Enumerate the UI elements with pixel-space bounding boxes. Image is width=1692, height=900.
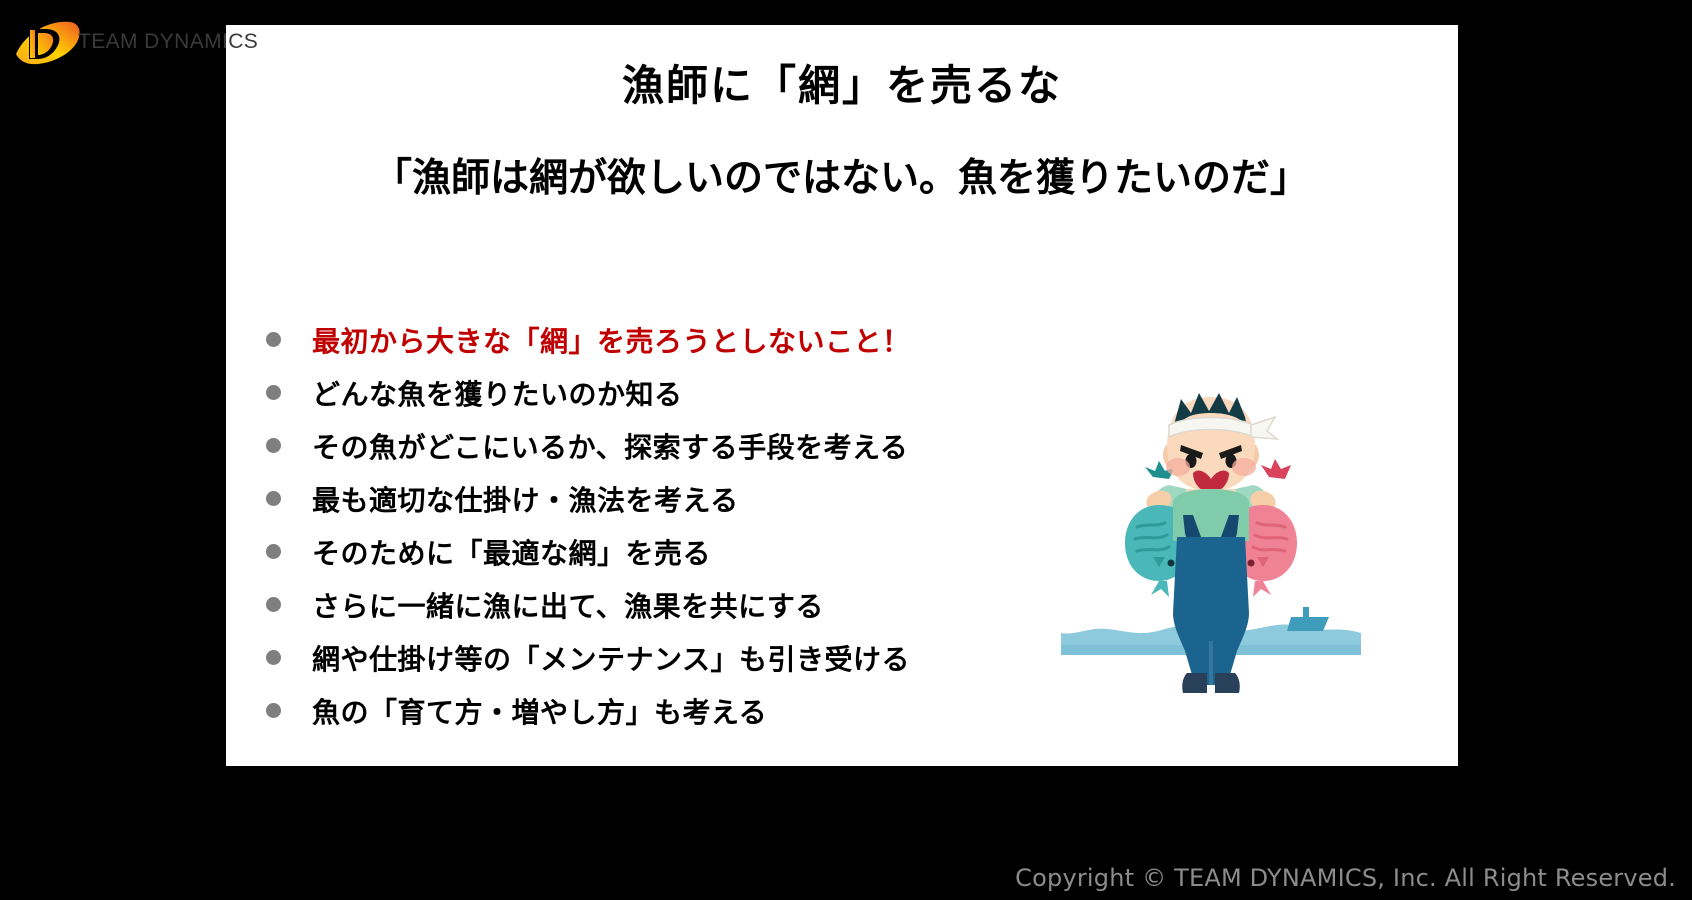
presentation-slide-viewer: TEAM DYNAMICS 漁師に「網」を売るな 「漁師は網が欲しいのではない。… <box>0 0 1692 900</box>
slide-subtitle: 「漁師は網が欲しいのではない。魚を獲りたいのだ」 <box>321 143 1361 215</box>
list-item-label: その魚がどこにいるか、探索する手段を考える <box>312 426 908 466</box>
list-item-label: 最も適切な仕掛け・漁法を考える <box>312 479 739 519</box>
list-item: さらに一緒に漁に出て、漁果を共にする <box>254 578 1054 631</box>
list-item-label: 網や仕掛け等の「メンテナンス」も引き受ける <box>312 638 910 678</box>
list-item: 最も適切な仕掛け・漁法を考える <box>254 472 1054 525</box>
fisherman-holding-two-fish-illustration <box>1041 355 1381 695</box>
page-title: 漁師に「網」を売るな <box>226 63 1458 109</box>
list-item-label: そのために「最適な網」を売る <box>312 532 711 572</box>
bullet-dot-icon <box>266 438 281 453</box>
list-item: 魚の「育て方・増やし方」も考える <box>254 684 1054 737</box>
overalls-icon <box>1173 515 1249 685</box>
bullet-dot-icon <box>266 385 281 400</box>
bullet-dot-icon <box>266 544 281 559</box>
bullet-dot-icon <box>266 491 281 506</box>
brand-logo: TEAM DYNAMICS <box>12 14 258 70</box>
bullet-dot-icon <box>266 703 281 718</box>
boat-icon <box>1287 607 1329 631</box>
list-item-label: 最初から大きな「網」を売ろうとしないこと！ <box>312 320 911 360</box>
team-dynamics-d-logo-icon <box>12 14 84 70</box>
bullet-list: 最初から大きな「網」を売ろうとしないこと！ どんな魚を獲りたいのか知る その魚が… <box>254 313 1054 737</box>
list-item: 最初から大きな「網」を売ろうとしないこと！ <box>254 313 1054 366</box>
list-item: 網や仕掛け等の「メンテナンス」も引き受ける <box>254 631 1054 684</box>
list-item-label: どんな魚を獲りたいのか知る <box>312 373 683 413</box>
footer-copyright: Copyright © TEAM DYNAMICS, Inc. All Righ… <box>0 864 1692 892</box>
list-item: どんな魚を獲りたいのか知る <box>254 366 1054 419</box>
bullet-dot-icon <box>266 597 281 612</box>
bullet-dot-icon <box>266 332 281 347</box>
list-item-label: さらに一緒に漁に出て、漁果を共にする <box>312 585 824 625</box>
list-item-label: 魚の「育て方・増やし方」も考える <box>312 691 767 731</box>
slide-canvas: 漁師に「網」を売るな 「漁師は網が欲しいのではない。魚を獲りたいのだ」 最初から… <box>226 25 1458 766</box>
list-item: その魚がどこにいるか、探索する手段を考える <box>254 419 1054 472</box>
bullet-dot-icon <box>266 650 281 665</box>
list-item: そのために「最適な網」を売る <box>254 525 1054 578</box>
brand-name: TEAM DYNAMICS <box>78 30 258 54</box>
